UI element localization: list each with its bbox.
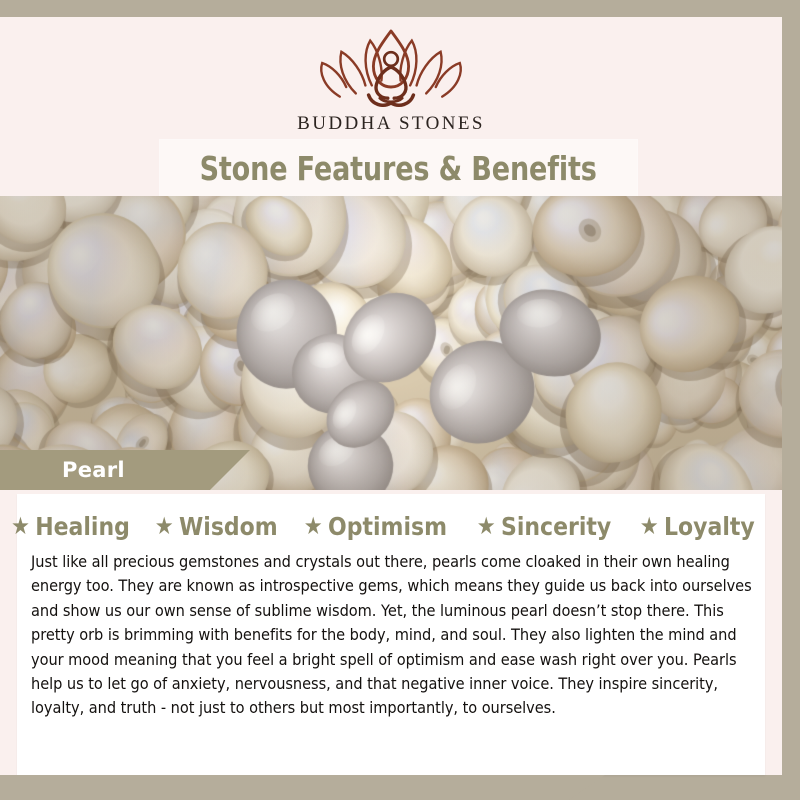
star-icon: ★ <box>304 514 323 538</box>
brand-header: BUDDHA STONES <box>0 17 782 157</box>
hero-photo: Pearl <box>0 196 782 490</box>
content-card: ★Healing★Wisdom★Optimism★Sincerity★Loyal… <box>17 494 765 775</box>
page-title: Stone Features & Benefits <box>200 149 597 188</box>
star-icon: ★ <box>154 514 173 538</box>
benefit-keyword-label: Loyalty <box>664 514 755 539</box>
star-icon: ★ <box>640 514 659 538</box>
pearl-photo-canvas <box>0 196 782 490</box>
stone-name-tab: Pearl <box>0 450 250 490</box>
benefit-keyword-label: Sincerity <box>501 514 611 539</box>
description-paragraph: Just like all precious gemstones and cry… <box>31 550 767 721</box>
benefit-keyword: ★Optimism <box>295 514 447 539</box>
left-rail <box>0 17 17 775</box>
benefit-keyword-label: Healing <box>35 514 130 539</box>
benefit-keyword-row: ★Healing★Wisdom★Optimism★Sincerity★Loyal… <box>17 494 765 544</box>
poster-root: BUDDHA STONES Stone Features & Benefits … <box>0 0 800 800</box>
benefit-keyword: ★Healing <box>11 514 130 539</box>
benefit-keyword: ★Loyalty <box>631 514 755 539</box>
benefit-keyword: ★Sincerity <box>468 514 611 539</box>
stone-name-label: Pearl <box>62 458 125 482</box>
bottom-left-corner-fill <box>0 775 17 800</box>
lotus-meditation-icon <box>311 23 471 111</box>
benefit-keyword: ★Wisdom <box>146 514 278 539</box>
benefit-keyword-label: Optimism <box>328 514 447 539</box>
benefit-keyword-label: Wisdom <box>179 514 278 539</box>
star-icon: ★ <box>477 514 496 538</box>
bottom-accent-band <box>0 775 605 800</box>
title-banner: Stone Features & Benefits <box>160 140 637 196</box>
brand-wordmark: BUDDHA STONES <box>297 113 485 135</box>
